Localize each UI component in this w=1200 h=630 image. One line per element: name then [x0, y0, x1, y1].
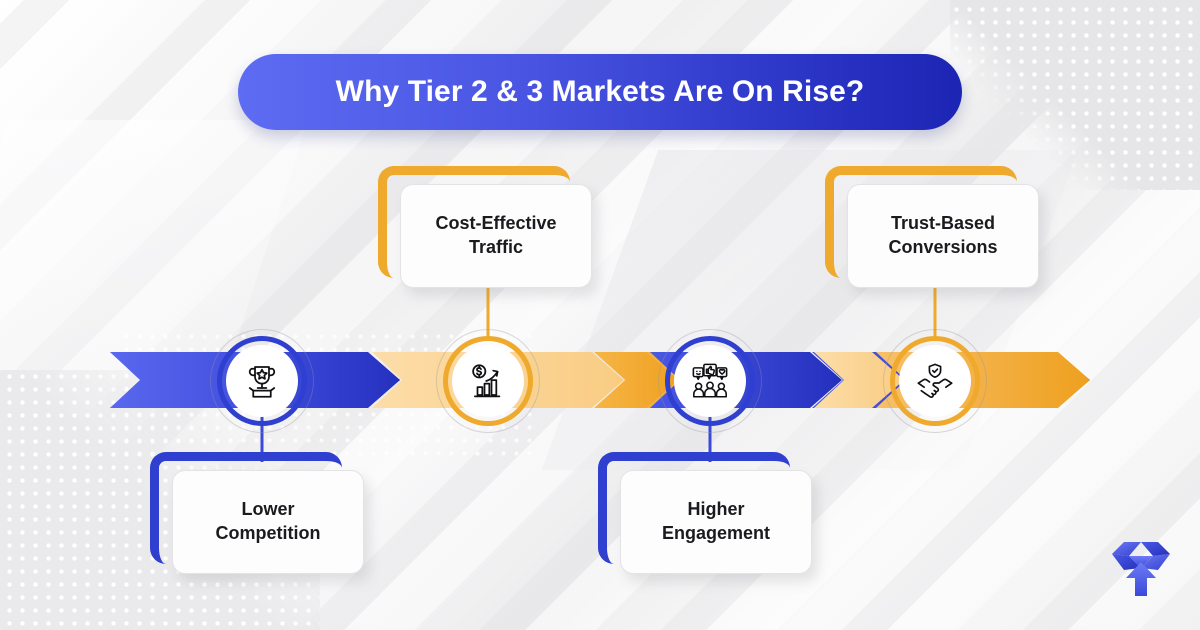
background-dots-top-right: [950, 0, 1200, 190]
card-label: Trust-Based Conversions: [880, 212, 1005, 260]
trophy-star-icon: [241, 360, 283, 402]
diamond-arrow-logo: [1104, 534, 1178, 600]
card-body: Trust-Based Conversions: [847, 184, 1039, 288]
node-trust-based-conversions[interactable]: [899, 345, 971, 417]
card-label-line2: Engagement: [662, 523, 770, 543]
card-label-line1: Trust-Based: [891, 213, 995, 233]
card-body: Higher Engagement: [620, 470, 812, 574]
process-flow-arrow-band-colors: [0, 330, 1200, 410]
card-label: Lower Competition: [208, 498, 329, 546]
audience-reaction-icon: [689, 360, 731, 402]
card-label-line2: Traffic: [469, 237, 523, 257]
card-label: Higher Engagement: [654, 498, 778, 546]
card-label-line2: Competition: [216, 523, 321, 543]
card-label: Cost-Effective Traffic: [427, 212, 564, 260]
card-label-line1: Higher: [687, 499, 744, 519]
card-label-line1: Lower: [241, 499, 294, 519]
card-body: Cost-Effective Traffic: [400, 184, 592, 288]
page-title: Why Tier 2 & 3 Markets Are On Rise?: [336, 75, 865, 109]
node-cost-effective-traffic[interactable]: [452, 345, 524, 417]
card-body: Lower Competition: [172, 470, 364, 574]
card-label-line2: Conversions: [888, 237, 997, 257]
card-label-line1: Cost-Effective: [435, 213, 556, 233]
node-lower-competition[interactable]: [226, 345, 298, 417]
infographic-canvas: Why Tier 2 & 3 Markets Are On Rise?: [0, 0, 1200, 630]
brand-logo[interactable]: [1104, 534, 1178, 600]
node-higher-engagement[interactable]: [674, 345, 746, 417]
handshake-shield-icon: [914, 360, 956, 402]
page-title-banner: Why Tier 2 & 3 Markets Are On Rise?: [238, 54, 962, 130]
dollar-growth-chart-icon: [467, 360, 509, 402]
